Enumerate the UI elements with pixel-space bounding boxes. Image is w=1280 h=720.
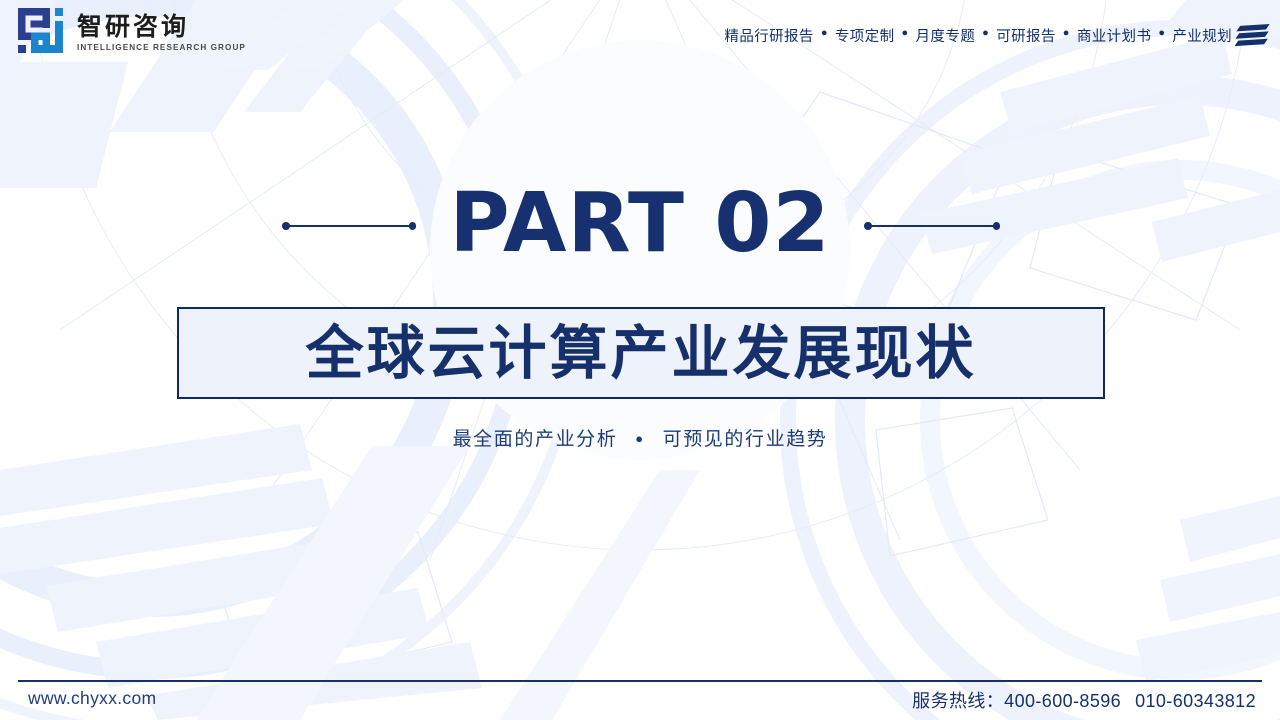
nav-item-4[interactable]: 商业计划书 <box>1077 25 1152 46</box>
hotline-primary: 400-600-8596 <box>1004 691 1121 711</box>
subtitle-left: 最全面的产业分析 <box>453 429 618 450</box>
header-nav[interactable]: 精品行研报告 ● 专项定制 ● 月度专题 ● 可研报告 ● 商业计划书 ● 产业… <box>724 0 1232 70</box>
part-label-row: PART 02 <box>0 172 1280 278</box>
nav-item-1[interactable]: 专项定制 <box>835 25 895 46</box>
decorative-line-left <box>282 222 416 229</box>
nav-item-2[interactable]: 月度专题 <box>916 25 976 46</box>
footer-website[interactable]: www.chyxx.com <box>28 688 156 709</box>
nav-item-3[interactable]: 可研报告 <box>996 25 1056 46</box>
stacked-layers-icon[interactable] <box>1234 24 1272 48</box>
subtitle-dot: ● <box>635 431 644 446</box>
nav-separator: ● <box>1158 28 1165 39</box>
section-title: 全球云计算产业发展现状 <box>305 324 976 382</box>
decorative-line-right <box>864 222 1000 229</box>
decorative-bar <box>286 225 412 228</box>
slide-canvas: 智研咨询 INTELLIGENCE RESEARCH GROUP 精品行研报告 … <box>0 0 1280 720</box>
footer-divider <box>18 680 1262 682</box>
footer-hotline: 服务热线：400-600-8596010-60343812 <box>912 687 1256 713</box>
decorative-dot <box>409 222 417 230</box>
nav-item-0[interactable]: 精品行研报告 <box>724 25 813 46</box>
hotline-secondary: 010-60343812 <box>1135 691 1256 711</box>
brand-name-cn: 智研咨询 <box>77 14 246 40</box>
decorative-bar <box>868 225 996 228</box>
nav-item-5[interactable]: 产业规划 <box>1172 25 1232 46</box>
brand-logo[interactable]: 智研咨询 INTELLIGENCE RESEARCH GROUP <box>18 8 246 58</box>
nav-separator: ● <box>982 28 989 39</box>
chyxx-logo-icon <box>18 8 68 58</box>
section-subtitle: 最全面的产业分析 ● 可预见的行业趋势 <box>0 424 1280 451</box>
nav-separator: ● <box>1063 28 1070 39</box>
section-title-box: 全球云计算产业发展现状 <box>177 307 1105 399</box>
hotline-label: 服务热线： <box>912 691 1004 711</box>
part-label: PART 02 <box>0 172 1280 276</box>
brand-name-en: INTELLIGENCE RESEARCH GROUP <box>77 43 246 52</box>
page-header: 智研咨询 INTELLIGENCE RESEARCH GROUP 精品行研报告 … <box>0 0 1280 70</box>
subtitle-right: 可预见的行业趋势 <box>663 429 828 450</box>
nav-separator: ● <box>901 28 908 39</box>
nav-separator: ● <box>821 28 828 39</box>
decorative-dot <box>993 222 1001 230</box>
